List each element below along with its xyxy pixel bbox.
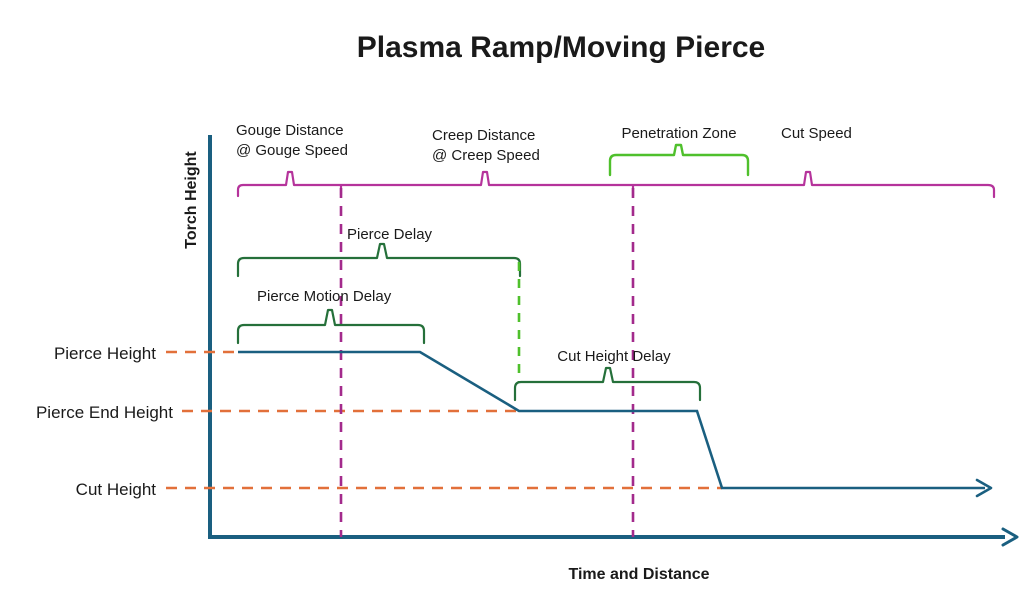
pierce-delay-bracket-group: Pierce Delay [238, 226, 520, 276]
torch-height-profile-group [238, 352, 991, 496]
pierce-delay-bracket [238, 244, 520, 276]
pierce-height-label: Pierce Height [54, 344, 156, 363]
pierce-motion-delay-bracket [238, 310, 424, 343]
cut-height-delay-bracket [515, 368, 700, 400]
pierce-end-height-label: Pierce End Height [36, 403, 173, 422]
x-axis-arrowhead [1003, 529, 1017, 545]
cut-height-delay-label: Cut Height Delay [557, 348, 671, 365]
penetration-zone-bracket-group [610, 145, 748, 175]
cut-speed-label: Cut Speed [781, 125, 852, 142]
penetration-zone-bracket [610, 145, 748, 175]
speed-phase-bracket [238, 172, 994, 197]
cut-height-delay-bracket-group: Cut Height Delay [515, 348, 700, 400]
level-labels: Pierce Height Pierce End Height Cut Heig… [36, 344, 173, 499]
page-title: Plasma Ramp/Moving Pierce [357, 31, 766, 64]
phase-labels: Gouge Distance @ Gouge Speed Creep Dista… [236, 122, 852, 164]
creep-distance-label-line2: @ Creep Speed [432, 147, 540, 164]
x-axis-label: Time and Distance [568, 566, 709, 583]
plasma-ramp-diagram: Plasma Ramp/Moving Pierce Torch Height T… [0, 0, 1032, 596]
gouge-distance-label-line2: @ Gouge Speed [236, 142, 348, 159]
pierce-delay-label: Pierce Delay [347, 226, 433, 243]
pierce-motion-delay-bracket-group: Pierce Motion Delay [238, 288, 424, 343]
pierce-motion-delay-label: Pierce Motion Delay [257, 288, 392, 305]
penetration-zone-label: Penetration Zone [621, 125, 736, 142]
level-reference-lines [166, 352, 722, 488]
creep-distance-label-line1: Creep Distance [432, 127, 535, 144]
diagram-canvas: Plasma Ramp/Moving Pierce Torch Height T… [0, 0, 1032, 596]
speed-zone-bracket-group [238, 172, 994, 197]
y-axis-label: Torch Height [183, 151, 200, 249]
gouge-distance-label-line1: Gouge Distance [236, 122, 344, 139]
cut-height-label: Cut Height [76, 480, 157, 499]
